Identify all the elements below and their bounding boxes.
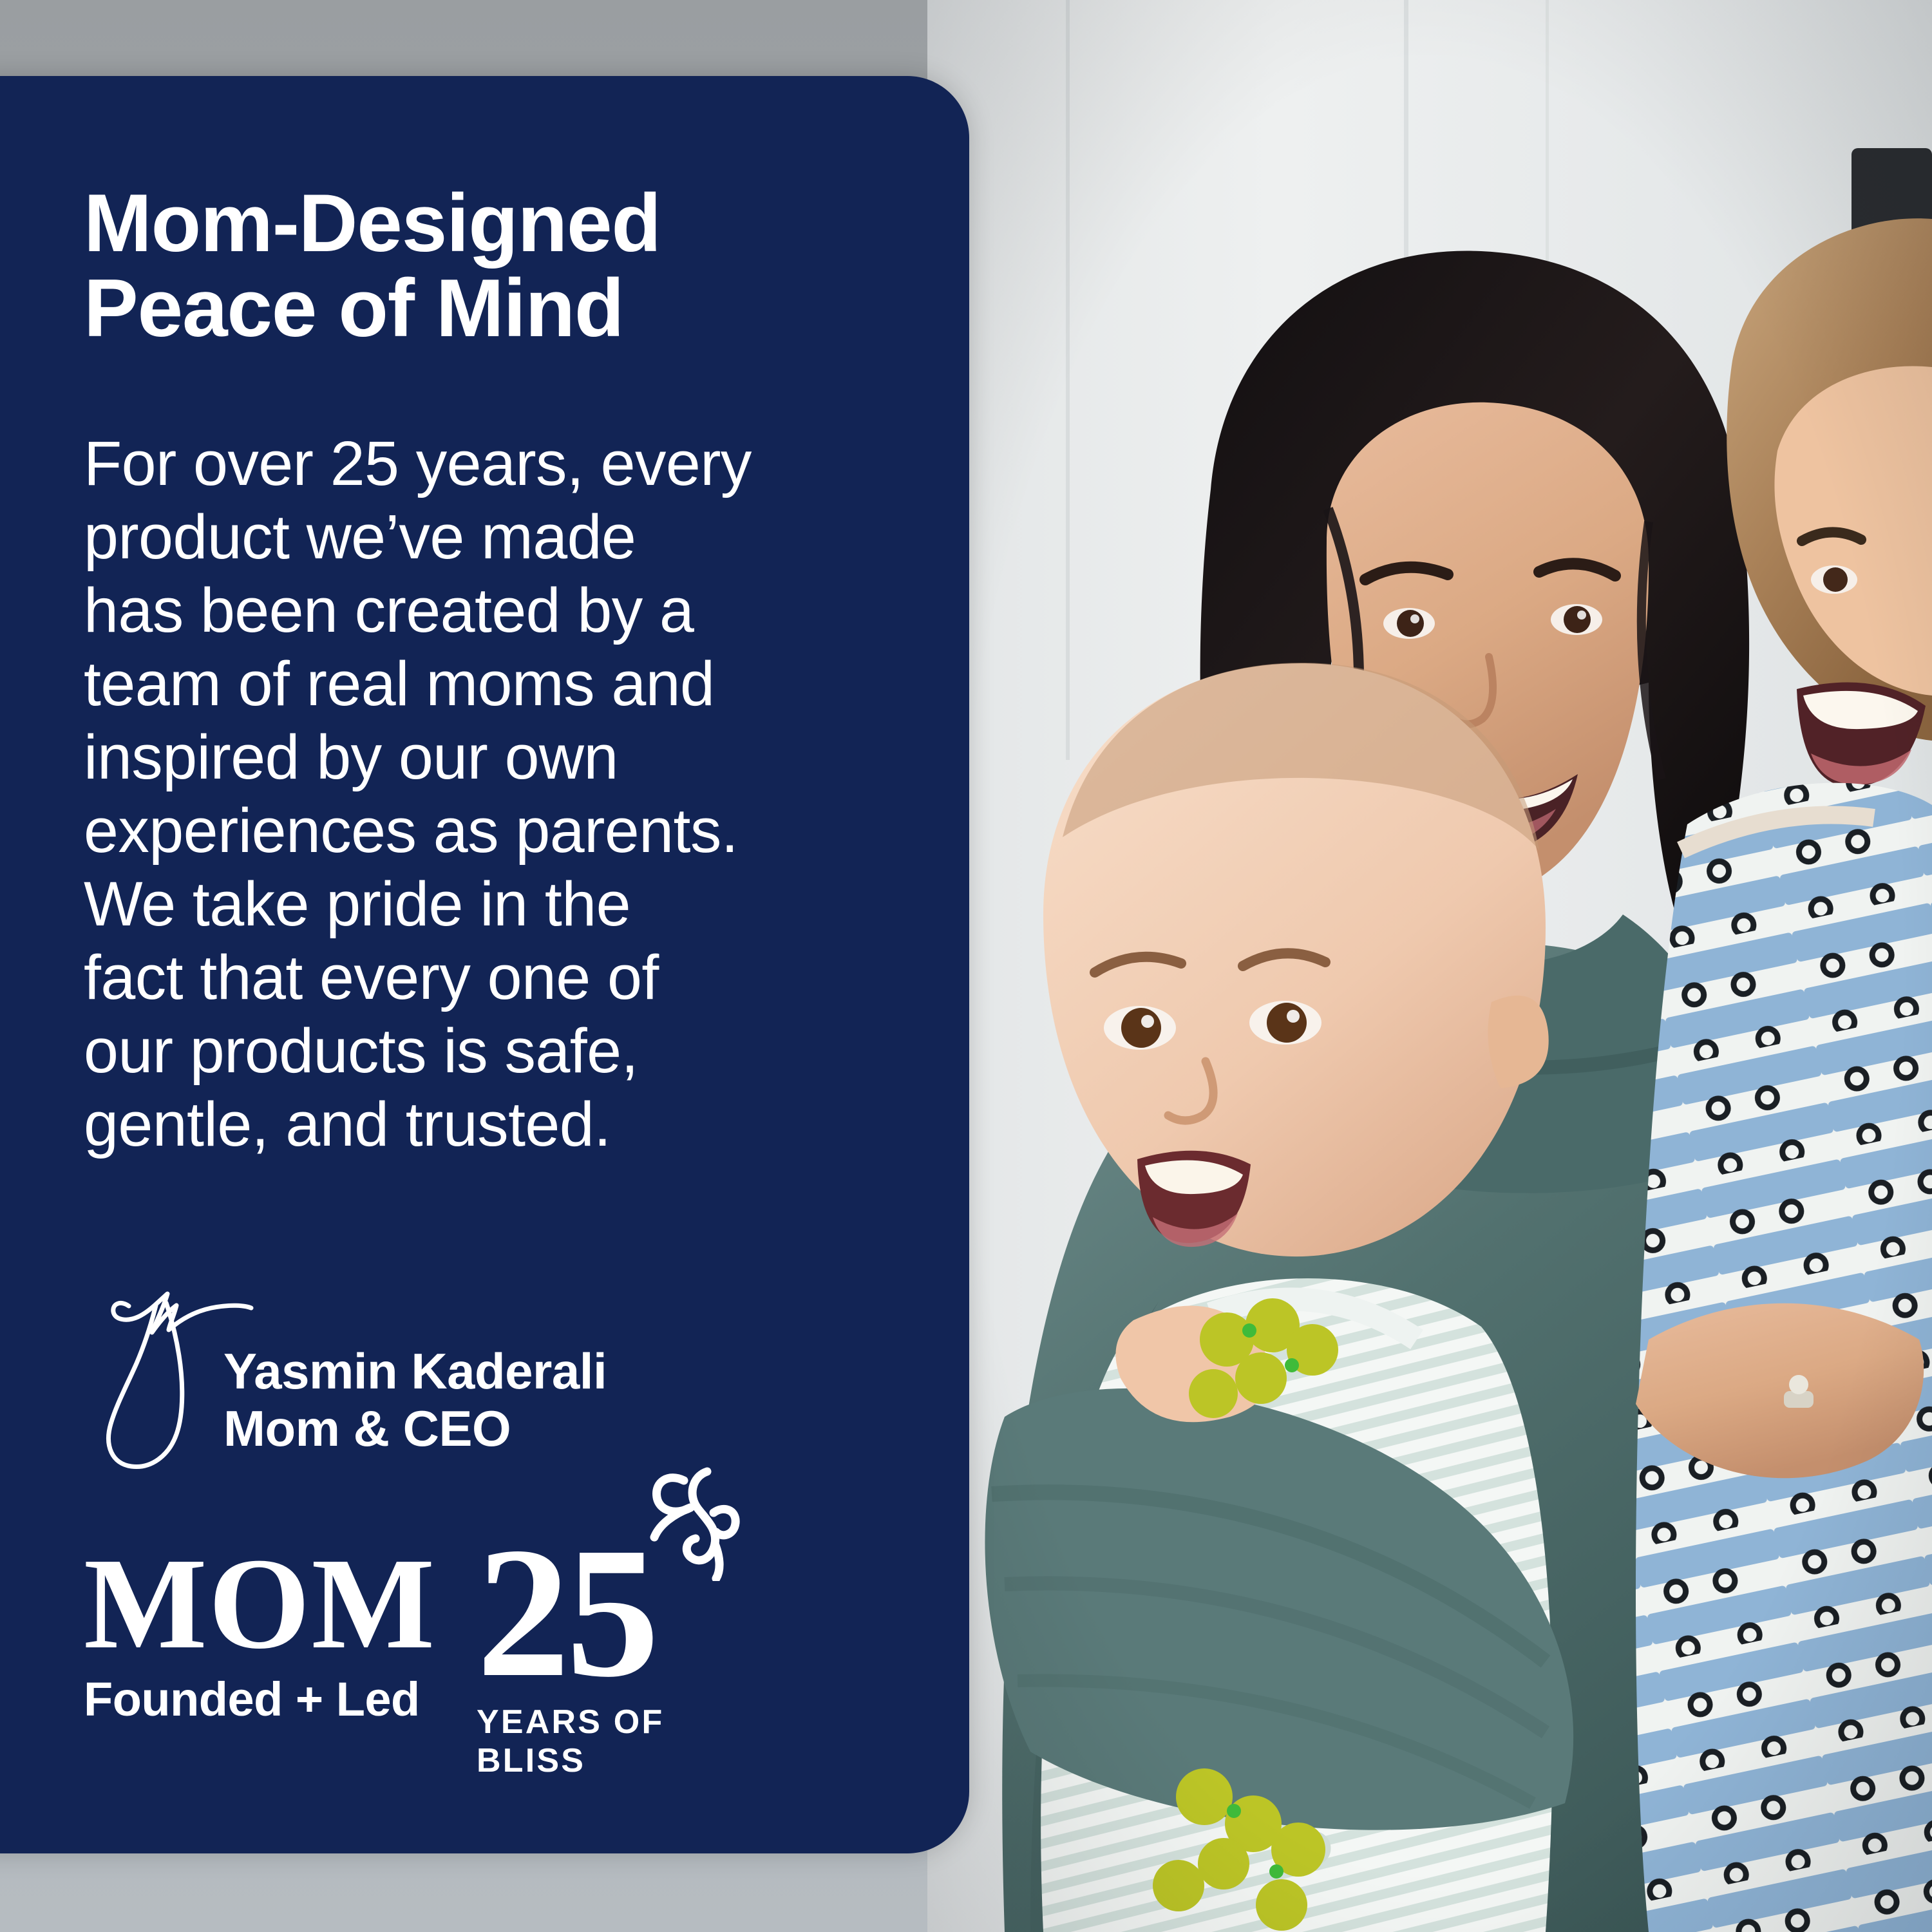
- body-line-9: our products is safe,: [84, 1016, 638, 1086]
- body-line-6: experiences as parents.: [84, 795, 738, 866]
- poster-canvas: Mom-Designed Peace of Mind For over 25 y…: [0, 0, 1932, 1932]
- signature-block: Yasmin Kaderali Mom & CEO: [79, 1283, 851, 1477]
- navy-content-card: Mom-Designed Peace of Mind For over 25 y…: [0, 76, 969, 1853]
- body-line-10: gentle, and trusted.: [84, 1089, 611, 1159]
- mom-founded-led-logo: MOM Founded + Led: [84, 1541, 483, 1723]
- signature-attribution: Yasmin Kaderali Mom & CEO: [223, 1343, 607, 1457]
- anniversary-badge: 25 YEARS OF BLISS: [477, 1527, 773, 1780]
- body-line-3: has been created by a: [84, 575, 694, 645]
- mom-wordmark: MOM: [84, 1541, 483, 1667]
- headline-line-1: Mom-Designed: [84, 177, 661, 269]
- author-name: Yasmin Kaderali: [223, 1343, 607, 1400]
- body-line-4: team of real moms and: [84, 649, 714, 719]
- logo-row: MOM Founded + Led 25 YEARS O: [84, 1541, 895, 1812]
- body-line-5: inspired by our own: [84, 722, 618, 792]
- body-line-7: We take pride in the: [84, 869, 630, 939]
- body-line-2: product we’ve made: [84, 502, 636, 572]
- body-line-8: fact that every one of: [84, 942, 659, 1012]
- headline-line-2: Peace of Mind: [84, 262, 623, 354]
- page-title: Mom-Designed Peace of Mind: [84, 180, 876, 350]
- author-title: Mom & CEO: [223, 1400, 607, 1457]
- anniversary-number: 25: [477, 1527, 656, 1699]
- calligraphic-flourish-icon: [645, 1465, 742, 1581]
- body-line-1: For over 25 years, every: [84, 428, 752, 498]
- mom-tagline: Founded + Led: [84, 1676, 483, 1723]
- body-paragraph: For over 25 years, every product we’ve m…: [84, 427, 908, 1161]
